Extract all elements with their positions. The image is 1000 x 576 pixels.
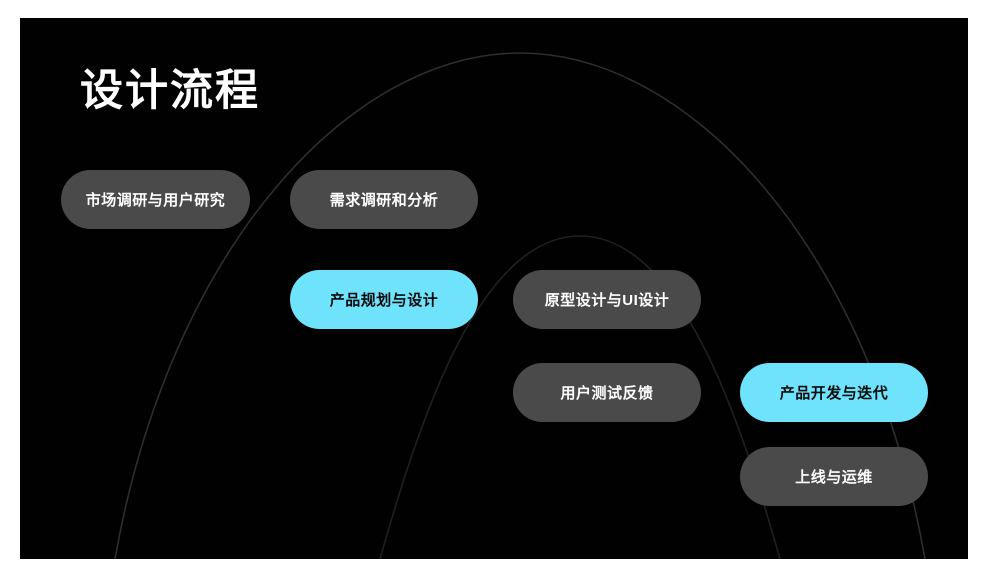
page-title: 设计流程 xyxy=(80,70,260,113)
process-step-product-planning[interactable]: 产品规划与设计 xyxy=(290,270,478,329)
process-step-label: 需求调研和分析 xyxy=(330,189,439,210)
process-step-requirements[interactable]: 需求调研和分析 xyxy=(290,170,478,229)
process-step-label: 产品开发与迭代 xyxy=(780,382,889,403)
process-step-launch-ops[interactable]: 上线与运维 xyxy=(740,447,928,506)
process-step-label: 产品规划与设计 xyxy=(330,289,439,310)
process-step-market-research[interactable]: 市场调研与用户研究 xyxy=(61,170,250,229)
process-step-label: 用户测试反馈 xyxy=(560,382,653,403)
slide-canvas: 设计流程 市场调研与用户研究 需求调研和分析 产品规划与设计 原型设计与UI设计… xyxy=(20,18,968,559)
process-step-user-testing[interactable]: 用户测试反馈 xyxy=(513,363,701,422)
slide-root: 设计流程 市场调研与用户研究 需求调研和分析 产品规划与设计 原型设计与UI设计… xyxy=(0,0,1000,576)
process-step-development[interactable]: 产品开发与迭代 xyxy=(740,363,928,422)
process-step-prototype-ui[interactable]: 原型设计与UI设计 xyxy=(513,270,701,329)
process-step-label: 原型设计与UI设计 xyxy=(545,289,670,310)
process-step-label: 上线与运维 xyxy=(795,466,873,487)
process-step-label: 市场调研与用户研究 xyxy=(86,189,226,210)
